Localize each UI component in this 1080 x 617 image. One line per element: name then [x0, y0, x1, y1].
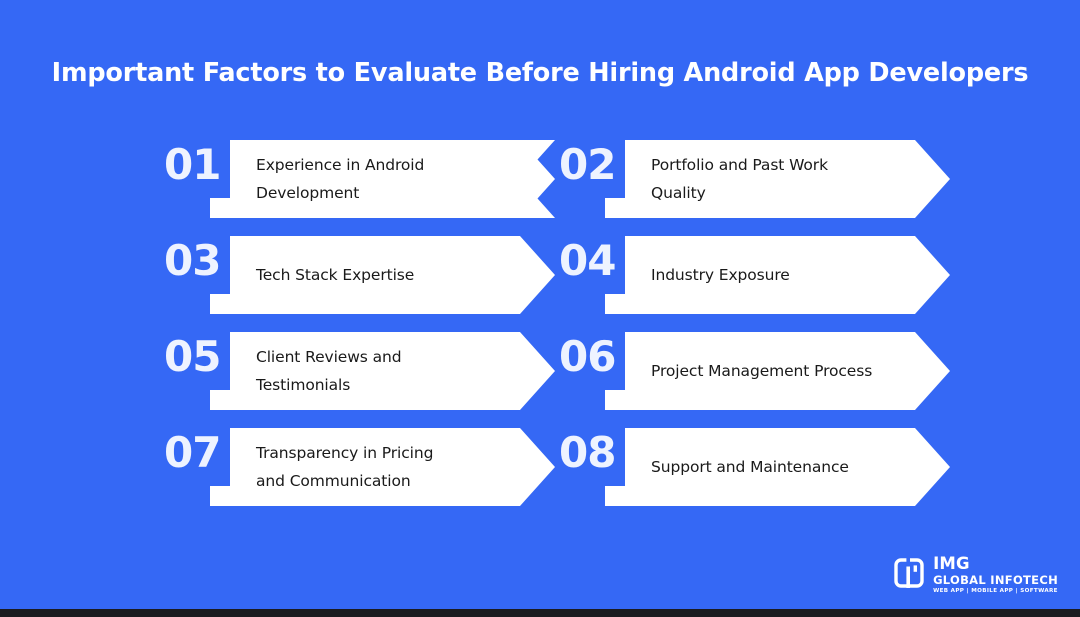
logo-subtitle: GLOBAL INFOTECH: [933, 575, 1058, 587]
factor-banner: Industry Exposure: [605, 236, 950, 314]
logo-name: IMG: [933, 556, 970, 573]
factor-number: 05: [160, 332, 222, 382]
factor-label: Support and Maintenance: [651, 428, 878, 506]
factor-number: 04: [555, 236, 617, 286]
factor-banner: Transparency in Pricing and Communicatio…: [210, 428, 555, 506]
factor-label: Experience in Android Development: [256, 140, 483, 218]
factor-number: 03: [160, 236, 222, 286]
factor-card[interactable]: 05 Client Reviews and Testimonials: [160, 332, 555, 410]
factor-number: 06: [555, 332, 617, 382]
factor-card[interactable]: 07 Transparency in Pricing and Communica…: [160, 428, 555, 506]
factor-banner: Experience in Android Development: [210, 140, 555, 218]
factor-number: 08: [555, 428, 617, 478]
factor-card[interactable]: 06 Project Management Process: [555, 332, 950, 410]
img-monogram-icon: [894, 558, 924, 593]
factor-card[interactable]: 02 Portfolio and Past Work Quality: [555, 140, 950, 218]
factor-card[interactable]: 01 Experience in Android Development: [160, 140, 555, 218]
factor-label: Transparency in Pricing and Communicatio…: [256, 428, 483, 506]
page-title: Important Factors to Evaluate Before Hir…: [0, 58, 1080, 88]
company-logo[interactable]: IMG GLOBAL INFOTECH WEB APP | MOBILE APP…: [894, 556, 1058, 595]
factor-number: 01: [160, 140, 222, 190]
logo-tagline: WEB APP | MOBILE APP | SOFTWARE: [933, 589, 1058, 595]
factor-banner: Tech Stack Expertise: [210, 236, 555, 314]
factor-label: Client Reviews and Testimonials: [256, 332, 483, 410]
factor-label: Portfolio and Past Work Quality: [651, 140, 878, 218]
factor-label: Project Management Process: [651, 332, 878, 410]
infographic-slide: Important Factors to Evaluate Before Hir…: [0, 0, 1080, 617]
logo-text-block: IMG GLOBAL INFOTECH WEB APP | MOBILE APP…: [933, 556, 1058, 595]
factor-card[interactable]: 03 Tech Stack Expertise: [160, 236, 555, 314]
factor-number: 02: [555, 140, 617, 190]
factor-number: 07: [160, 428, 222, 478]
factor-banner: Project Management Process: [605, 332, 950, 410]
factor-card[interactable]: 04 Industry Exposure: [555, 236, 950, 314]
factor-card-grid: 01 Experience in Android Development 02 …: [160, 140, 950, 524]
factor-label: Tech Stack Expertise: [256, 236, 483, 314]
factor-label: Industry Exposure: [651, 236, 878, 314]
bottom-strip: [0, 609, 1080, 617]
factor-banner: Support and Maintenance: [605, 428, 950, 506]
factor-banner: Portfolio and Past Work Quality: [605, 140, 950, 218]
factor-banner: Client Reviews and Testimonials: [210, 332, 555, 410]
factor-card[interactable]: 08 Support and Maintenance: [555, 428, 950, 506]
